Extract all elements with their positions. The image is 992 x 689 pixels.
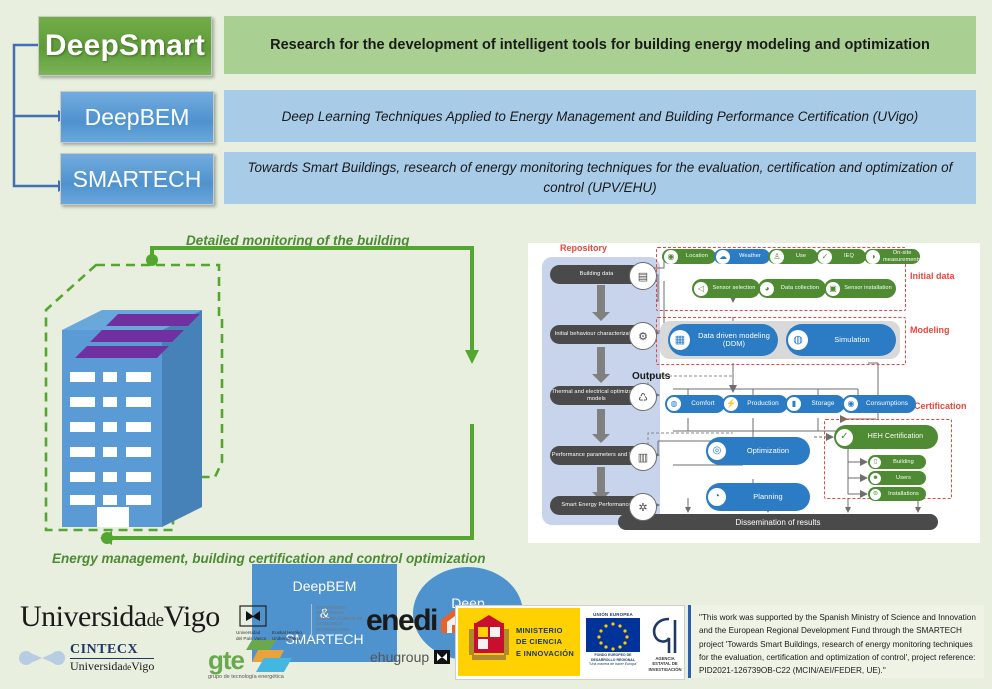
pill-optimization-label: Optimization	[729, 447, 810, 455]
pill-consumptions[interactable]: ◉ Consumptions	[842, 395, 916, 413]
desc-deepsmart: Research for the development of intellig…	[224, 16, 976, 74]
gte-word: gte	[208, 645, 244, 676]
pill-onsite-measurements-label: On-site measurements	[883, 250, 924, 263]
pill-weather[interactable]: ☁ Weather	[714, 249, 770, 264]
pill-weather-label: Weather	[733, 253, 770, 259]
pill-cert-users[interactable]: ☻ Users	[868, 471, 926, 485]
pill-data-collection-label: Data collection	[777, 285, 826, 291]
footer-section: UniversidadeVigo CINTECX UniversidadeVig…	[0, 596, 992, 689]
pill-consumptions-label: Consumptions	[861, 400, 916, 407]
database-icon: ▤	[629, 262, 657, 290]
pill-simulation[interactable]: ◍ Simulation	[786, 324, 896, 356]
repo-arrow-3	[597, 409, 605, 435]
upv-ehu-logo: Universidaddel País Vasco Euskal Herriko…	[236, 604, 341, 638]
aei-logo: AGENCIA ESTATAL DE INVESTIGACIÓN	[646, 616, 684, 672]
pill-ieq[interactable]: ✓ IEQ	[816, 249, 866, 264]
pill-optimization[interactable]: ◎ Optimization	[706, 437, 810, 465]
pill-use-label: Use	[787, 253, 818, 259]
pill-planning-label: Planning	[729, 493, 810, 501]
bolt-icon: ⚡	[724, 397, 738, 411]
pill-heh-certification[interactable]: ✓ HEH Certification	[834, 425, 938, 449]
cintecx-logo: CINTECX UniversidadeVigo	[18, 638, 203, 678]
pill-ddm-label: Data driven modeling (DDM)	[693, 332, 778, 349]
poster-root: DeepSmart Research for the development o…	[0, 0, 992, 689]
repo-arrow-4	[597, 467, 605, 493]
pill-ddm[interactable]: ▦ Data driven modeling (DDM)	[668, 324, 778, 356]
ministry-name: MINISTERIO DE CIENCIA E INNOVACIÓN	[516, 625, 574, 659]
flow-diagram-panel: Repository Initial data Modeling Outputs…	[528, 243, 980, 543]
cintecx-mark-icon	[18, 645, 66, 671]
pill-production-label: Production	[741, 400, 788, 407]
upv-crest-icon	[236, 604, 270, 630]
pill-cert-installations[interactable]: ⊜ Installations	[868, 487, 926, 501]
check-icon: ✓	[818, 250, 832, 264]
funding-acknowledgement: "This work was supported by the Spanish …	[688, 605, 984, 678]
cintecx-text: CINTECX UniversidadeVigo	[70, 642, 154, 674]
thermometer-icon: ◍	[667, 397, 681, 411]
brand-deepsmart[interactable]: DeepSmart	[38, 16, 212, 76]
pill-location[interactable]: ◉ Location	[662, 249, 716, 264]
brand-deepbem[interactable]: DeepBEM	[60, 91, 214, 143]
upv-campus-text: NAZIOARTEKO BIKAINTASUN CAMPUSA CAMPUS D…	[316, 605, 364, 632]
eu-title: UNIÓN EUROPEA	[586, 612, 640, 617]
aei-mark-icon	[647, 616, 683, 656]
aei-name: AGENCIA ESTATAL DE INVESTIGACIÓN	[646, 656, 684, 672]
desc-deepbem: Deep Learning Techniques Applied to Ener…	[224, 90, 976, 142]
header-section: DeepSmart Research for the development o…	[0, 0, 992, 212]
enedi-word: enedi	[366, 604, 437, 638]
ehu-mark-icon	[432, 648, 452, 666]
pill-sensor-installation[interactable]: ▣ Sensor installation	[824, 279, 896, 298]
desc-smartech: Towards Smart Buildings, research of ene…	[224, 152, 976, 204]
pill-cert-installations-label: Installations	[884, 491, 926, 497]
label-certification: Certification	[914, 401, 967, 411]
ehu-group-logo: ehugroup	[370, 648, 452, 666]
pill-comfort[interactable]: ◍ Comfort	[665, 395, 725, 413]
pill-sensor-installation-label: Sensor installation	[843, 285, 896, 291]
label-outputs: Outputs	[632, 371, 670, 382]
cursor-icon: ◁	[694, 282, 708, 296]
pill-sensor-selection[interactable]: ◁ Sensor selection	[692, 279, 760, 298]
cloud-icon: ☁	[716, 250, 730, 264]
label-initial-data: Initial data	[910, 271, 955, 281]
gte-logo: gte grupo de tecnología energética	[208, 636, 368, 680]
pill-data-collection[interactable]: ◕ Data collection	[758, 279, 826, 298]
building-illustration	[40, 262, 300, 592]
pill-onsite-measurements[interactable]: ◑ On-site measurements	[864, 249, 920, 264]
cintecx-sub: UniversidadeVigo	[70, 659, 154, 674]
ehu-word: ehugroup	[370, 649, 429, 665]
eu-subtitle: FONDO EUROPEO DE DESARROLLO REGIONAL "Un…	[586, 653, 640, 667]
cintecx-title: CINTECX	[70, 642, 154, 659]
pill-ieq-label: IEQ	[835, 253, 866, 259]
label-repository: Repository	[560, 243, 607, 253]
badge-check-icon: ✓	[836, 429, 853, 446]
spain-coat-of-arms-icon	[464, 613, 514, 671]
pill-cert-building[interactable]: ▯ Building	[868, 455, 926, 469]
brand-smartech[interactable]: SMARTECH	[60, 153, 214, 205]
government-logos: MINISTERIO DE CIENCIA E INNOVACIÓN UNIÓN…	[455, 605, 685, 680]
pill-cert-building-label: Building	[884, 459, 926, 465]
dissemination-bar[interactable]: Dissemination of results	[618, 514, 938, 530]
battery-icon: ▮	[787, 397, 801, 411]
pill-comfort-label: Comfort	[684, 400, 725, 407]
user-icon: ☻	[870, 473, 881, 484]
pie-icon: ◕	[760, 282, 774, 296]
uvigo-part3: Vigo	[164, 600, 220, 633]
device-icon: ▣	[826, 282, 840, 296]
upv-divider	[311, 604, 312, 638]
eu-logo: UNIÓN EUROPEA FONDO EUROPEO DE DESARROLL…	[586, 612, 640, 667]
uvigo-part1: Universida	[20, 600, 147, 633]
pill-sensor-selection-label: Sensor selection	[711, 285, 760, 291]
pill-production[interactable]: ⚡ Production	[722, 395, 788, 413]
repo-arrow-2	[597, 347, 605, 375]
ruler-icon: ◑	[866, 250, 880, 264]
uvigo-logo: UniversidadeVigo	[20, 600, 220, 634]
pill-heh-certification-label: HEH Certification	[856, 433, 938, 441]
building-icon: ▯	[870, 457, 881, 468]
uvigo-part2: de	[147, 610, 164, 631]
middle-left-section: Detailed monitoring of the building Ener…	[0, 212, 528, 572]
ministry-logo: MINISTERIO DE CIENCIA E INNOVACIÓN	[458, 608, 580, 676]
pill-location-label: Location	[681, 253, 716, 259]
recycle-icon: ♺	[629, 383, 657, 411]
pill-storage-label: Storage	[804, 400, 845, 407]
clock-icon: ◔	[708, 488, 726, 506]
matrix-icon: ▦	[670, 330, 690, 350]
pill-simulation-label: Simulation	[811, 336, 896, 344]
target-icon: ◎	[708, 442, 726, 460]
gte-mark-icon	[242, 636, 294, 674]
cycle-icon: ◍	[788, 330, 808, 350]
pill-use[interactable]: ♙ Use	[768, 249, 818, 264]
label-modeling: Modeling	[910, 325, 950, 335]
pin-icon: ◉	[664, 250, 678, 264]
pill-storage[interactable]: ▮ Storage	[785, 395, 845, 413]
plug-icon: ⊜	[870, 489, 881, 500]
bar-chart-icon: ▥	[629, 443, 657, 471]
gears-icon: ⚙	[629, 322, 657, 350]
bulb-icon: ◉	[844, 397, 858, 411]
pill-planning[interactable]: ◔ Planning	[706, 483, 810, 511]
pill-cert-users-label: Users	[884, 475, 926, 481]
logo-group: UniversidadeVigo CINTECX UniversidadeVig…	[8, 596, 448, 689]
people-icon: ♙	[770, 250, 784, 264]
gear-sun-icon: ✲	[629, 493, 657, 521]
eu-flag-icon	[586, 618, 640, 652]
repo-arrow-1	[597, 285, 605, 313]
